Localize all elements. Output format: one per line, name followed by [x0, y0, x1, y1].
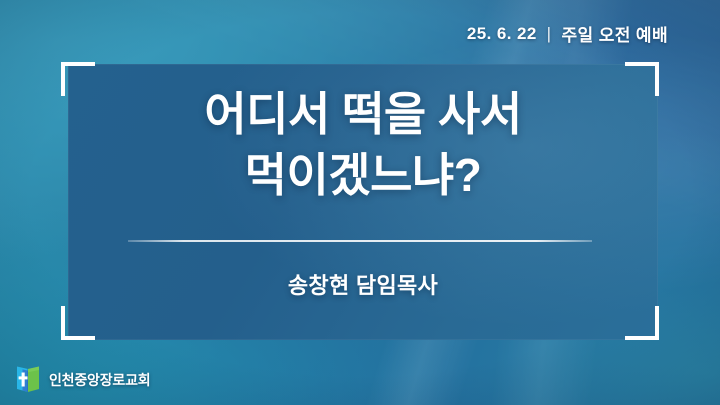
sermon-title-line-2: 먹이겠느냐?: [68, 145, 658, 206]
church-name: 인천중앙장로교회: [49, 370, 150, 390]
service-date: 25. 6. 22: [467, 24, 537, 44]
header-separator: |: [546, 24, 553, 44]
sermon-title-line-1: 어디서 떡을 사서: [68, 84, 658, 145]
service-name: 주일 오전 예배: [562, 21, 669, 46]
corner-bracket-bottom-left: [61, 306, 95, 340]
corner-bracket-bottom-right: [625, 306, 659, 340]
title-divider: [128, 240, 592, 242]
church-cross-book-icon: [14, 365, 42, 395]
sermon-title: 어디서 떡을 사서 먹이겠느냐?: [68, 84, 658, 206]
header-meta: 25. 6. 22 | 주일 오전 예배: [467, 21, 668, 46]
sermon-title-slide: 25. 6. 22 | 주일 오전 예배 어디서 떡을 사서 먹이겠느냐? 송창…: [0, 0, 720, 405]
church-logo: 인천중앙장로교회: [14, 365, 150, 395]
speaker-name: 송창현 담임목사: [68, 268, 658, 300]
